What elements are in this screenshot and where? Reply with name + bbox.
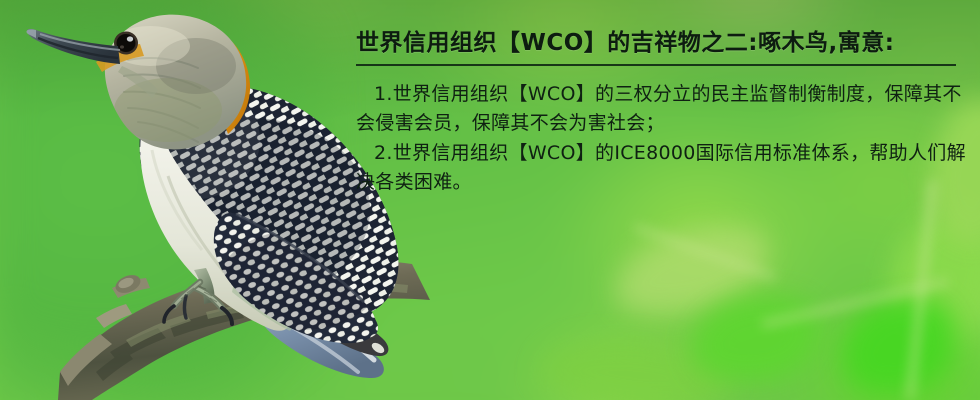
brow-stripe xyxy=(96,44,144,72)
wco-woodpecker-banner: 世界信用组织【WCO】的吉祥物之二:啄木鸟,寓意: 1.世界信用组织【WCO】的… xyxy=(0,0,980,400)
background-stem xyxy=(634,224,777,280)
list-item: 1.世界信用组织【WCO】的三权分立的民主监督制衡制度，保障其不会侵害会员，保障… xyxy=(356,80,970,138)
background-leaf-shape xyxy=(827,281,973,400)
page-title: 世界信用组织【WCO】的吉祥物之二:啄木鸟,寓意: xyxy=(356,26,970,60)
mascot-meaning-list: 1.世界信用组织【WCO】的三权分立的民主监督制衡制度，保障其不会侵害会员，保障… xyxy=(356,80,970,197)
title-underline xyxy=(356,64,956,66)
foot xyxy=(164,268,232,324)
background-leaf-shape xyxy=(604,211,779,330)
claw xyxy=(164,306,174,322)
eye xyxy=(114,32,138,55)
background-leaf-shape xyxy=(878,201,980,352)
tail-feathers xyxy=(254,286,388,378)
nape-patch xyxy=(188,22,250,134)
background-stem xyxy=(762,279,948,328)
background-stem xyxy=(907,180,937,400)
beak xyxy=(26,29,120,64)
wing xyxy=(200,200,400,360)
branch xyxy=(58,260,430,400)
head xyxy=(26,15,250,150)
claw xyxy=(185,296,187,318)
text-panel: 世界信用组织【WCO】的吉祥物之二:啄木鸟,寓意: 1.世界信用组织【WCO】的… xyxy=(356,26,970,198)
background-left-flat-green xyxy=(0,0,330,400)
background-leaf-shape xyxy=(684,286,828,392)
claw xyxy=(222,308,232,324)
breast xyxy=(140,115,291,331)
list-item: 2.世界信用组织【WCO】的ICE8000国际信用标准体系，帮助人们解决各类困难… xyxy=(356,139,970,197)
background-leaf-shape xyxy=(537,332,732,400)
